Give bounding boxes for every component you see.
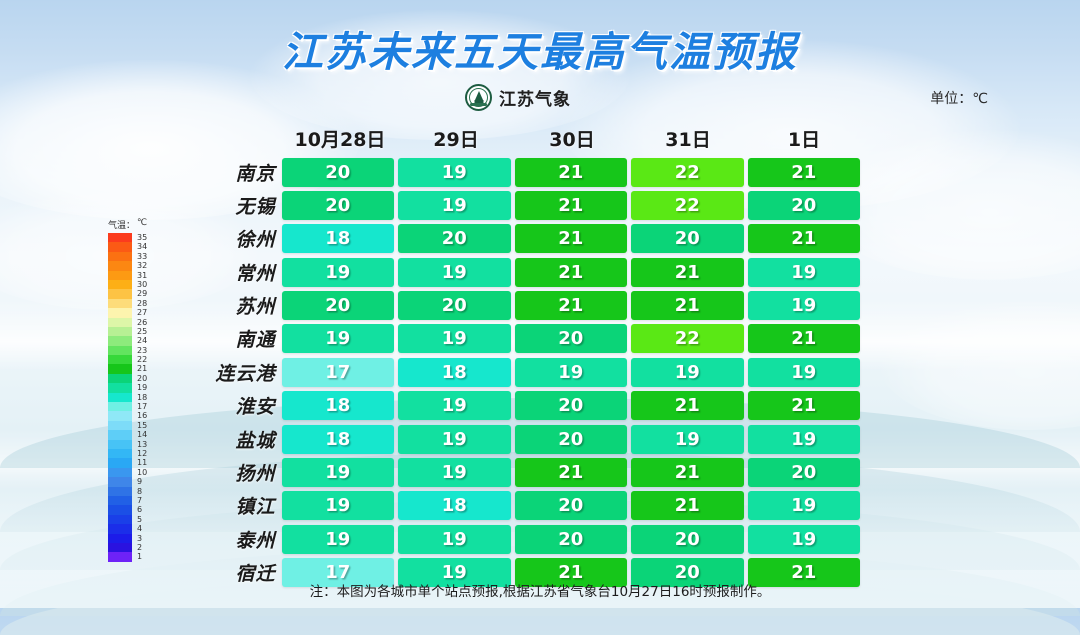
city-label: 常州 bbox=[196, 259, 276, 286]
temperature-cell: 19 bbox=[398, 158, 511, 187]
temperature-cell: 20 bbox=[515, 425, 628, 454]
legend-swatch bbox=[108, 496, 132, 505]
temperature-cell: 20 bbox=[398, 224, 511, 253]
legend-swatch bbox=[108, 364, 132, 373]
temperature-cell: 19 bbox=[398, 391, 511, 420]
legend-label: 8 bbox=[137, 487, 142, 496]
legend-label: 9 bbox=[137, 477, 142, 486]
table-header-cell: 1日 bbox=[748, 125, 860, 152]
legend-label: 33 bbox=[137, 252, 147, 261]
legend-label: 6 bbox=[137, 505, 142, 514]
city-label: 扬州 bbox=[196, 459, 276, 486]
temperature-cell: 21 bbox=[748, 224, 861, 253]
legend-label: 1 bbox=[137, 552, 142, 561]
legend-label: 34 bbox=[137, 242, 147, 251]
legend-swatch bbox=[108, 374, 132, 383]
temperature-cell: 20 bbox=[282, 291, 395, 320]
legend-stop: 19 bbox=[108, 383, 164, 392]
temperature-cell: 17 bbox=[282, 358, 395, 387]
legend-stop: 3 bbox=[108, 534, 164, 543]
legend-label: 31 bbox=[137, 271, 147, 280]
temperature-cell: 21 bbox=[631, 491, 744, 520]
legend-swatch bbox=[108, 242, 132, 251]
legend-swatch bbox=[108, 299, 132, 308]
temperature-cell: 22 bbox=[631, 158, 744, 187]
temperature-cell: 19 bbox=[748, 358, 861, 387]
brand-logo: 江苏气象 bbox=[465, 84, 571, 111]
legend-scale: 3534333231302928272625242322212019181716… bbox=[108, 233, 164, 562]
temperature-legend: 气温：℃ 35343332313029282726252423222120191… bbox=[108, 218, 164, 562]
legend-stop: 35 bbox=[108, 233, 164, 242]
temperature-cell: 19 bbox=[398, 425, 511, 454]
legend-swatch bbox=[108, 552, 132, 561]
legend-swatch bbox=[108, 440, 132, 449]
temperature-cell: 21 bbox=[515, 458, 628, 487]
legend-stop: 7 bbox=[108, 496, 164, 505]
table-header-cell: 31日 bbox=[632, 125, 744, 152]
temperature-cell: 21 bbox=[515, 158, 628, 187]
legend-stop: 14 bbox=[108, 430, 164, 439]
legend-label: 30 bbox=[137, 280, 147, 289]
legend-swatch bbox=[108, 543, 132, 552]
legend-swatch bbox=[108, 430, 132, 439]
temperature-cell: 21 bbox=[631, 458, 744, 487]
table-header-cell: 29日 bbox=[400, 125, 512, 152]
temperature-cell: 21 bbox=[748, 158, 861, 187]
temperature-cell: 19 bbox=[282, 324, 395, 353]
legend-swatch bbox=[108, 280, 132, 289]
legend-swatch bbox=[108, 318, 132, 327]
legend-stop: 34 bbox=[108, 242, 164, 251]
legend-swatch bbox=[108, 346, 132, 355]
legend-stop: 15 bbox=[108, 421, 164, 430]
temperature-cell: 20 bbox=[631, 224, 744, 253]
temperature-cell: 19 bbox=[398, 258, 511, 287]
temperature-cell: 21 bbox=[631, 258, 744, 287]
pagoda-emblem-icon bbox=[465, 84, 492, 111]
legend-stop: 33 bbox=[108, 252, 164, 261]
legend-swatch bbox=[108, 393, 132, 402]
legend-swatch bbox=[108, 355, 132, 364]
temperature-cell: 21 bbox=[631, 291, 744, 320]
city-label: 南京 bbox=[196, 159, 276, 186]
legend-stop: 12 bbox=[108, 449, 164, 458]
legend-label: 35 bbox=[137, 233, 147, 242]
legend-swatch bbox=[108, 449, 132, 458]
table-body: 南京2019212221无锡2019212220徐州1820212021常州19… bbox=[196, 156, 864, 589]
legend-stop: 1 bbox=[108, 552, 164, 561]
city-label: 连云港 bbox=[196, 359, 276, 386]
table-row: 常州1919212119 bbox=[196, 256, 864, 288]
legend-label: 4 bbox=[137, 524, 142, 533]
table-row: 连云港1718191919 bbox=[196, 356, 864, 388]
city-label: 无锡 bbox=[196, 192, 276, 219]
temperature-cell: 21 bbox=[515, 224, 628, 253]
forecast-table: 10月28日29日30日31日1日 南京2019212221无锡20192122… bbox=[196, 120, 864, 590]
temperature-cell: 19 bbox=[398, 525, 511, 554]
legend-stop: 26 bbox=[108, 318, 164, 327]
legend-swatch bbox=[108, 327, 132, 336]
table-row: 盐城1819201919 bbox=[196, 423, 864, 455]
legend-label: 7 bbox=[137, 496, 142, 505]
city-label: 南通 bbox=[196, 325, 276, 352]
legend-swatch bbox=[108, 468, 132, 477]
temperature-cell: 20 bbox=[515, 525, 628, 554]
temperature-cell: 20 bbox=[515, 324, 628, 353]
table-row: 苏州2020212119 bbox=[196, 290, 864, 322]
legend-stop: 25 bbox=[108, 327, 164, 336]
legend-stop: 27 bbox=[108, 308, 164, 317]
legend-swatch bbox=[108, 524, 132, 533]
temperature-cell: 19 bbox=[398, 324, 511, 353]
temperature-cell: 19 bbox=[631, 358, 744, 387]
temperature-cell: 18 bbox=[398, 358, 511, 387]
table-row: 徐州1820212021 bbox=[196, 223, 864, 255]
legend-label: 19 bbox=[137, 383, 147, 392]
legend-label: 13 bbox=[137, 440, 147, 449]
legend-swatch bbox=[108, 421, 132, 430]
legend-title-unit: ℃ bbox=[137, 218, 147, 231]
legend-stop: 6 bbox=[108, 505, 164, 514]
temperature-cell: 19 bbox=[748, 425, 861, 454]
legend-stop: 32 bbox=[108, 261, 164, 270]
legend-swatch bbox=[108, 534, 132, 543]
legend-title-label: 气温： bbox=[108, 218, 135, 231]
temperature-cell: 20 bbox=[748, 458, 861, 487]
legend-stop: 13 bbox=[108, 440, 164, 449]
legend-label: 5 bbox=[137, 515, 142, 524]
temperature-cell: 21 bbox=[515, 191, 628, 220]
legend-label: 24 bbox=[137, 336, 147, 345]
brand-name: 江苏气象 bbox=[499, 85, 571, 110]
legend-label: 12 bbox=[137, 449, 147, 458]
city-label: 淮安 bbox=[196, 392, 276, 419]
temperature-cell: 20 bbox=[398, 291, 511, 320]
legend-swatch bbox=[108, 233, 132, 242]
temperature-cell: 21 bbox=[515, 258, 628, 287]
temperature-cell: 19 bbox=[748, 525, 861, 554]
legend-stop: 9 bbox=[108, 477, 164, 486]
city-label: 徐州 bbox=[196, 225, 276, 252]
legend-swatch bbox=[108, 402, 132, 411]
temperature-cell: 20 bbox=[515, 391, 628, 420]
temperature-cell: 18 bbox=[282, 425, 395, 454]
legend-stop: 10 bbox=[108, 468, 164, 477]
temperature-cell: 19 bbox=[748, 291, 861, 320]
legend-label: 20 bbox=[137, 374, 147, 383]
legend-label: 32 bbox=[137, 261, 147, 270]
legend-stop: 20 bbox=[108, 374, 164, 383]
legend-stop: 31 bbox=[108, 271, 164, 280]
temperature-cell: 19 bbox=[282, 458, 395, 487]
cloud-shape bbox=[880, 300, 1080, 430]
legend-swatch bbox=[108, 505, 132, 514]
temperature-cell: 19 bbox=[631, 425, 744, 454]
table-header-cell: 10月28日 bbox=[284, 125, 396, 152]
legend-stop: 5 bbox=[108, 515, 164, 524]
legend-stop: 22 bbox=[108, 355, 164, 364]
temperature-cell: 18 bbox=[282, 391, 395, 420]
legend-title: 气温：℃ bbox=[108, 218, 164, 231]
legend-stop: 24 bbox=[108, 336, 164, 345]
legend-swatch bbox=[108, 515, 132, 524]
temperature-cell: 20 bbox=[748, 191, 861, 220]
legend-label: 27 bbox=[137, 308, 147, 317]
table-row: 镇江1918202119 bbox=[196, 490, 864, 522]
legend-stop: 18 bbox=[108, 393, 164, 402]
legend-stop: 11 bbox=[108, 458, 164, 467]
legend-label: 22 bbox=[137, 355, 147, 364]
table-row: 扬州1919212120 bbox=[196, 457, 864, 489]
table-row: 南京2019212221 bbox=[196, 156, 864, 188]
legend-swatch bbox=[108, 252, 132, 261]
legend-swatch bbox=[108, 308, 132, 317]
table-row: 淮安1819202121 bbox=[196, 390, 864, 422]
legend-swatch bbox=[108, 336, 132, 345]
table-row: 南通1919202221 bbox=[196, 323, 864, 355]
temperature-cell: 21 bbox=[515, 291, 628, 320]
temperature-cell: 19 bbox=[282, 491, 395, 520]
legend-label: 10 bbox=[137, 468, 147, 477]
legend-label: 17 bbox=[137, 402, 147, 411]
legend-swatch bbox=[108, 411, 132, 420]
legend-swatch bbox=[108, 458, 132, 467]
temperature-cell: 19 bbox=[282, 525, 395, 554]
temperature-cell: 22 bbox=[631, 324, 744, 353]
legend-swatch bbox=[108, 261, 132, 270]
legend-label: 16 bbox=[137, 411, 147, 420]
city-label: 苏州 bbox=[196, 292, 276, 319]
legend-stop: 21 bbox=[108, 364, 164, 373]
legend-stop: 16 bbox=[108, 411, 164, 420]
legend-stop: 4 bbox=[108, 524, 164, 533]
legend-swatch bbox=[108, 289, 132, 298]
temperature-cell: 19 bbox=[398, 458, 511, 487]
legend-swatch bbox=[108, 487, 132, 496]
legend-stop: 8 bbox=[108, 487, 164, 496]
legend-label: 18 bbox=[137, 393, 147, 402]
temperature-cell: 21 bbox=[748, 391, 861, 420]
temperature-cell: 21 bbox=[748, 324, 861, 353]
legend-label: 14 bbox=[137, 430, 147, 439]
legend-stop: 17 bbox=[108, 402, 164, 411]
temperature-cell: 19 bbox=[398, 191, 511, 220]
legend-swatch bbox=[108, 477, 132, 486]
temperature-cell: 18 bbox=[398, 491, 511, 520]
legend-label: 3 bbox=[137, 534, 142, 543]
legend-label: 15 bbox=[137, 421, 147, 430]
legend-stop: 2 bbox=[108, 543, 164, 552]
legend-swatch bbox=[108, 383, 132, 392]
temperature-cell: 22 bbox=[631, 191, 744, 220]
table-row: 泰州1919202019 bbox=[196, 523, 864, 555]
legend-stop: 29 bbox=[108, 289, 164, 298]
temperature-cell: 19 bbox=[515, 358, 628, 387]
legend-label: 23 bbox=[137, 346, 147, 355]
legend-stop: 28 bbox=[108, 299, 164, 308]
temperature-cell: 20 bbox=[515, 491, 628, 520]
legend-label: 11 bbox=[137, 458, 147, 467]
legend-stop: 30 bbox=[108, 280, 164, 289]
city-label: 盐城 bbox=[196, 426, 276, 453]
table-row: 无锡2019212220 bbox=[196, 189, 864, 221]
legend-label: 26 bbox=[137, 318, 147, 327]
legend-label: 25 bbox=[137, 327, 147, 336]
temperature-cell: 21 bbox=[631, 391, 744, 420]
temperature-cell: 19 bbox=[748, 491, 861, 520]
legend-label: 29 bbox=[137, 289, 147, 298]
table-header-cell: 30日 bbox=[516, 125, 628, 152]
temperature-cell: 20 bbox=[282, 158, 395, 187]
page-title: 江苏未来五天最高气温预报 bbox=[0, 18, 1080, 78]
footnote: 注：本图为各城市单个站点预报,根据江苏省气象台10月27日16时预报制作。 bbox=[0, 580, 1080, 600]
city-label: 泰州 bbox=[196, 526, 276, 553]
legend-label: 21 bbox=[137, 364, 147, 373]
city-label: 镇江 bbox=[196, 492, 276, 519]
legend-stop: 23 bbox=[108, 346, 164, 355]
legend-label: 2 bbox=[137, 543, 142, 552]
temperature-cell: 20 bbox=[631, 525, 744, 554]
temperature-cell: 20 bbox=[282, 191, 395, 220]
legend-swatch bbox=[108, 271, 132, 280]
unit-label: 单位：℃ bbox=[930, 88, 988, 108]
temperature-cell: 18 bbox=[282, 224, 395, 253]
temperature-cell: 19 bbox=[282, 258, 395, 287]
table-header-row: 10月28日29日30日31日1日 bbox=[284, 120, 864, 156]
legend-label: 28 bbox=[137, 299, 147, 308]
temperature-cell: 19 bbox=[748, 258, 861, 287]
